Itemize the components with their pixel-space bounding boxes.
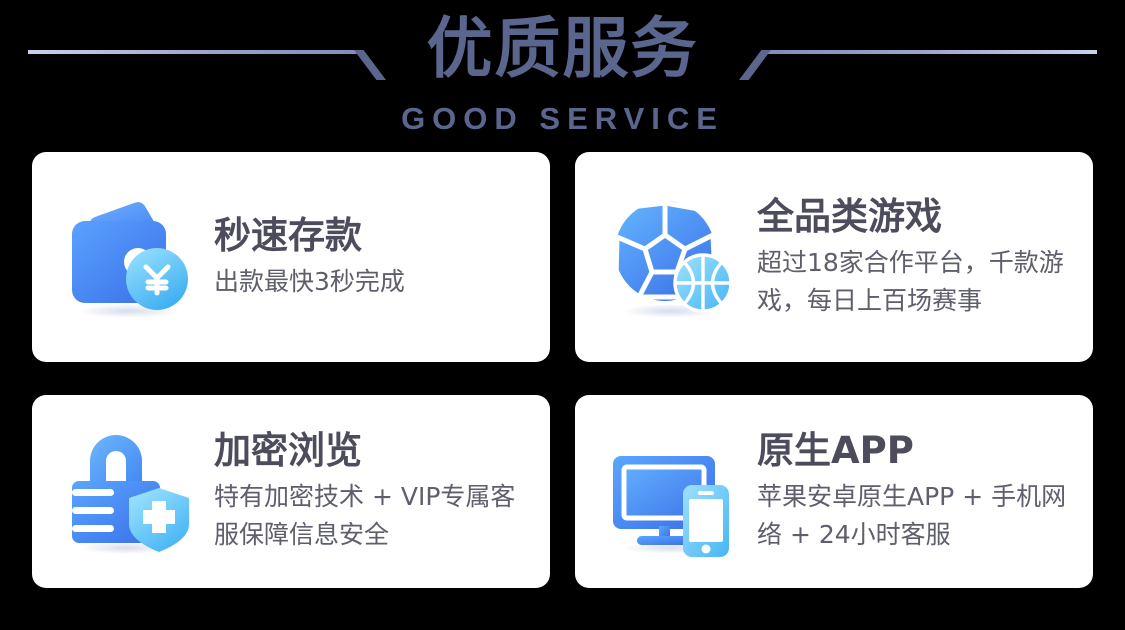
feature-card-desc: 出款最快3秒完成 — [214, 263, 540, 301]
page-subtitle: GOOD SERVICE — [0, 101, 1125, 137]
lock-shield-icon — [64, 426, 196, 558]
feature-card-encryption[interactable]: 加密浏览 特有加密技术 + VIP专属客服保障信息安全 — [32, 395, 550, 588]
feature-card-grid: 秒速存款 出款最快3秒完成 — [32, 152, 1093, 588]
feature-card-desc: 特有加密技术 + VIP专属客服保障信息安全 — [214, 478, 540, 554]
feature-card-text: 全品类游戏 超过18家合作平台，千款游戏，每日上百场赛事 — [739, 195, 1093, 320]
feature-card-native-app[interactable]: 原生APP 苹果安卓原生APP + 手机网络 + 24小时客服 — [575, 395, 1093, 588]
monitor-phone-icon — [607, 426, 739, 558]
feature-card-text: 秒速存款 出款最快3秒完成 — [196, 214, 550, 301]
feature-card-title: 加密浏览 — [214, 429, 540, 473]
feature-card-desc: 苹果安卓原生APP + 手机网络 + 24小时客服 — [757, 478, 1083, 554]
feature-card-title: 原生APP — [757, 429, 1083, 473]
feature-card-desc: 超过18家合作平台，千款游戏，每日上百场赛事 — [757, 244, 1083, 320]
soccer-basketball-icon — [607, 191, 739, 323]
feature-card-text: 加密浏览 特有加密技术 + VIP专属客服保障信息安全 — [196, 429, 550, 554]
promo-banner: 优质服务 GOOD SERVICE — [0, 0, 1125, 630]
page-title: 优质服务 — [0, 10, 1125, 88]
feature-card-text: 原生APP 苹果安卓原生APP + 手机网络 + 24小时客服 — [739, 429, 1093, 554]
feature-card-deposit[interactable]: 秒速存款 出款最快3秒完成 — [32, 152, 550, 362]
banner-header: 优质服务 GOOD SERVICE — [0, 0, 1125, 150]
feature-card-title: 全品类游戏 — [757, 195, 1083, 239]
feature-card-games[interactable]: 全品类游戏 超过18家合作平台，千款游戏，每日上百场赛事 — [575, 152, 1093, 362]
feature-card-title: 秒速存款 — [214, 214, 540, 258]
wallet-icon — [64, 191, 196, 323]
